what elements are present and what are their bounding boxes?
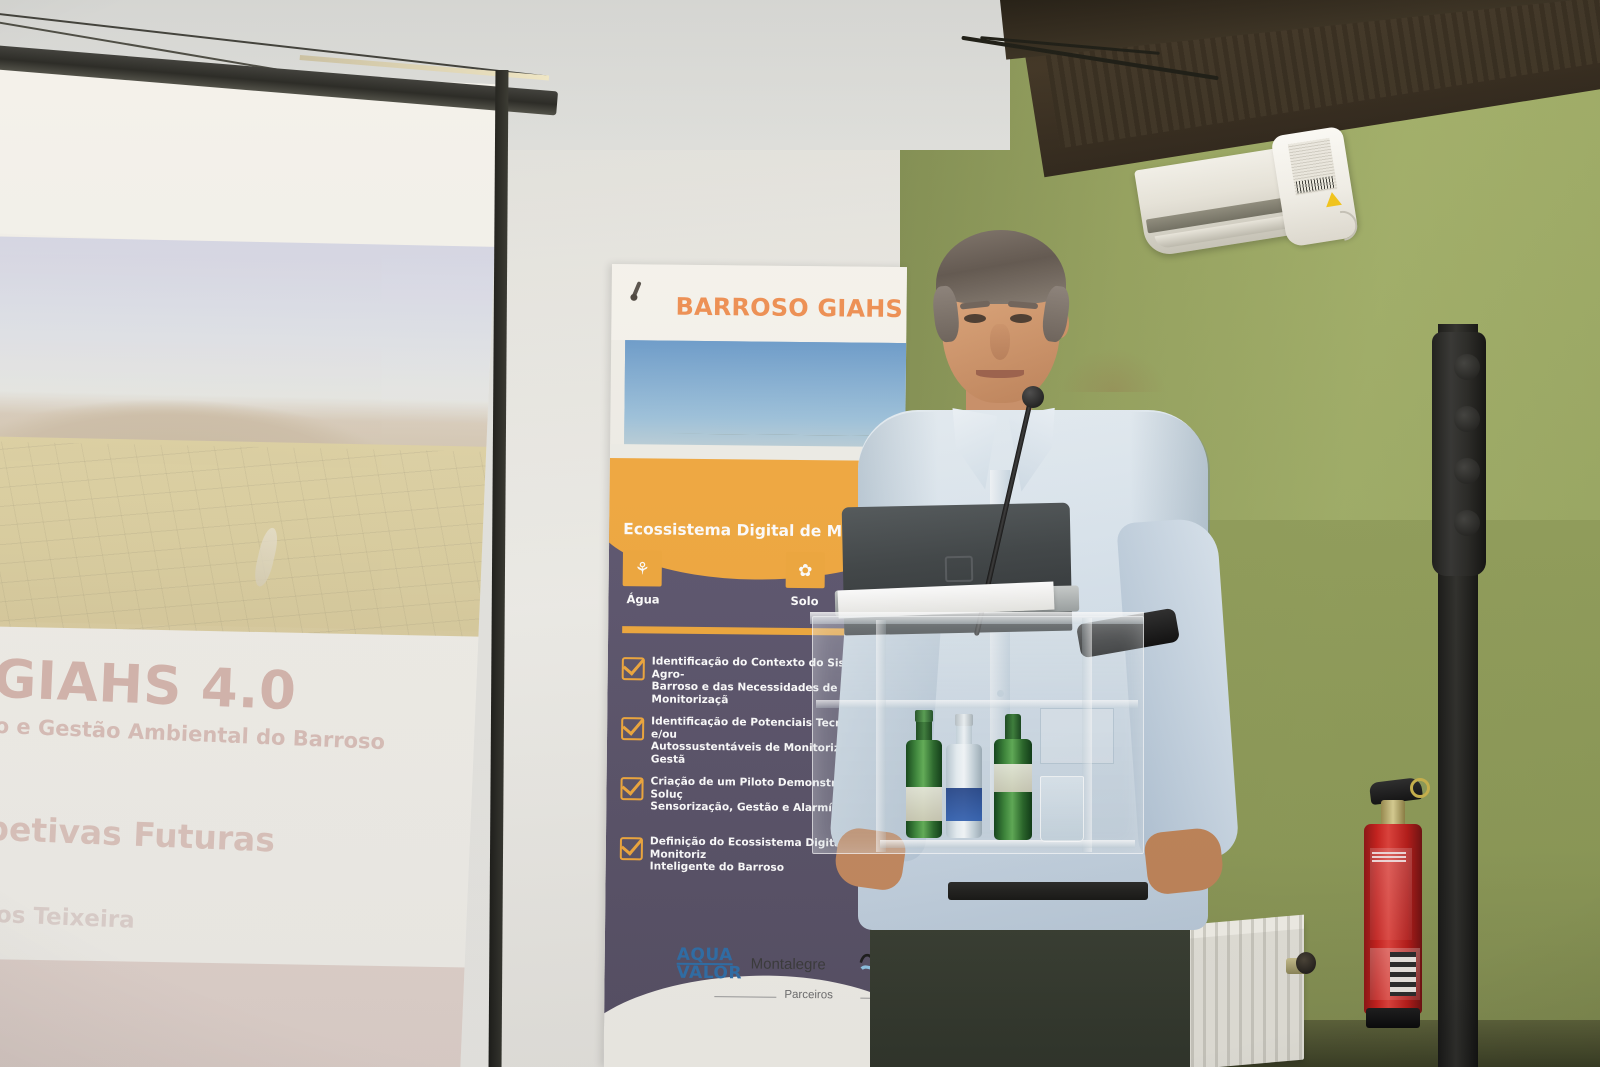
montalegre-logo: Montalegre xyxy=(751,955,826,973)
lectern-left-post xyxy=(876,620,886,852)
checkbox-icon xyxy=(621,717,644,740)
aquavalor-logo: AQUA VALOR xyxy=(676,947,742,982)
bottle-label xyxy=(946,788,982,821)
banner-icon-water-label: Água xyxy=(626,592,659,606)
photo-scene: OSO GIAHS 4.0 Monitorização e Gestão Amb… xyxy=(0,0,1600,1067)
slide-author: Carlos Teixeira xyxy=(0,900,464,948)
speaker-driver xyxy=(1454,354,1480,380)
bottle-label xyxy=(906,787,942,821)
extinguisher-base xyxy=(1366,1008,1420,1028)
slide-landscape-photo xyxy=(0,236,495,632)
clear-water-bottle xyxy=(946,720,982,838)
banner-icon-soil-label: Solo xyxy=(790,594,818,608)
water-drop-icon: ⚘ xyxy=(623,550,662,586)
presenter-belt xyxy=(948,882,1148,900)
presenter-mouth xyxy=(976,370,1024,378)
bottle-cap xyxy=(1003,708,1023,720)
extinguisher-safety-pin-icon xyxy=(1410,778,1430,798)
slide-title: OSO GIAHS 4.0 xyxy=(0,642,405,726)
checkbox-icon xyxy=(620,837,643,860)
green-glass-bottle-right xyxy=(994,714,1032,840)
speaker-driver xyxy=(1454,510,1480,536)
lectern-top-edge xyxy=(810,612,1144,624)
presenter-eye-left xyxy=(964,314,986,323)
slide-photo-field-lines xyxy=(0,441,500,637)
extinguisher-label-text xyxy=(1372,852,1406,862)
checkbox-icon xyxy=(622,657,645,680)
slide-bottom-band xyxy=(0,958,478,1067)
bottle-label xyxy=(994,764,1032,792)
fire-extinguisher xyxy=(1364,772,1426,1028)
face-shading xyxy=(1060,348,1166,392)
presenter-hand-right xyxy=(1143,826,1225,896)
speaker-driver-array xyxy=(1432,332,1486,576)
green-glass-bottle-left xyxy=(906,716,942,838)
projection-screen: OSO GIAHS 4.0 Monitorização e Gestão Amb… xyxy=(0,63,502,1067)
soil-icon: ✿ xyxy=(786,552,825,588)
extinguisher-class-pictograms xyxy=(1390,952,1416,996)
banner-section-title: Ecossistema Digital de Mo xyxy=(623,520,853,540)
speaker-driver xyxy=(1454,406,1480,432)
banner-icon-water: ⚘ xyxy=(623,550,662,586)
aquavalor-logo-line2: VALOR xyxy=(676,963,742,984)
presentation-slide: OSO GIAHS 4.0 Monitorização e Gestão Amb… xyxy=(0,63,502,1067)
slide-secondary-line: s e Perspetivas Futuras xyxy=(0,802,458,867)
microphone-capsule-icon xyxy=(1022,386,1044,408)
lectern-bottom-rail xyxy=(880,840,1135,848)
laptop-brand-logo-icon xyxy=(945,556,974,583)
presenter-hair xyxy=(936,230,1066,304)
presenter-nose xyxy=(990,324,1010,360)
drinking-glass xyxy=(1040,776,1084,842)
partners-label: Parceiros xyxy=(784,989,833,1002)
banner-icon-soil: ✿ xyxy=(786,552,825,588)
bottle-cap xyxy=(915,710,934,722)
pa-speaker-tower xyxy=(1424,324,1490,1067)
speaker-driver xyxy=(1454,458,1480,484)
warning-triangle-icon xyxy=(1324,191,1342,207)
bottle-cap xyxy=(955,714,974,726)
presenter-eye-right xyxy=(1010,314,1032,323)
radiator-knob[interactable] xyxy=(1296,952,1316,974)
checkbox-icon xyxy=(620,777,643,800)
